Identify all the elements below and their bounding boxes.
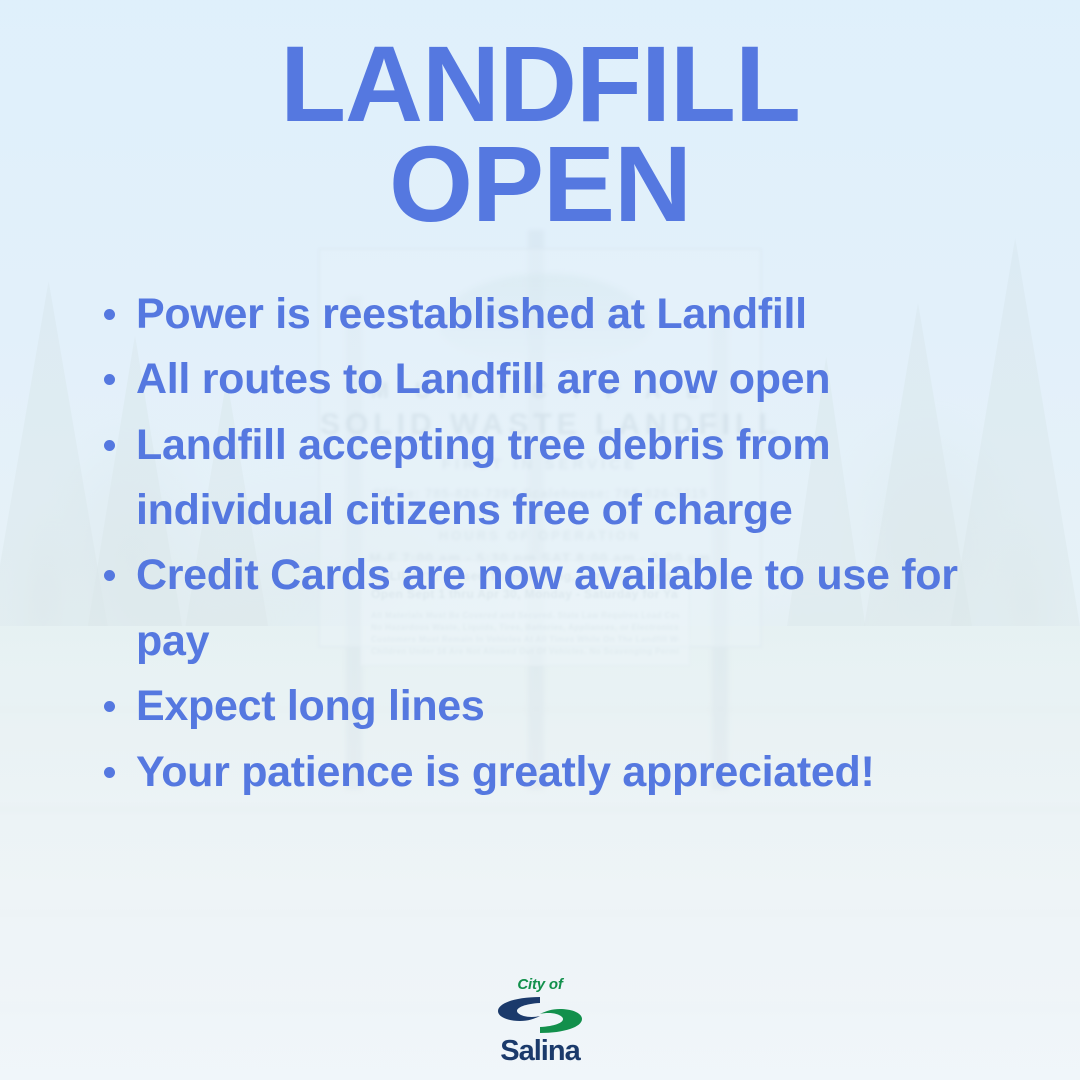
salina-swoosh-icon (492, 994, 588, 1036)
list-item: Your patience is greatly appreciated! (96, 740, 1020, 805)
list-item: Power is reestablished at Landfill (96, 282, 1020, 347)
list-item: Credit Cards are now available to use fo… (96, 543, 1020, 674)
list-item: Landfill accepting tree debris from indi… (96, 413, 1020, 544)
poster-content: LANDFILL OPEN Power is reestablished at … (0, 0, 1080, 1080)
city-of-salina-logo: City of Salina (465, 976, 615, 1066)
list-item: Expect long lines (96, 674, 1020, 739)
page-title: LANDFILL OPEN (0, 34, 1080, 235)
title-line-2: OPEN (0, 134, 1080, 234)
logo-city-of-text: City of (465, 976, 615, 993)
logo-salina-text: Salina (465, 1037, 615, 1066)
poster: M U N I C I P A L SOLID WASTE LANDFILL F… (0, 0, 1080, 1080)
list-item: All routes to Landfill are now open (96, 347, 1020, 412)
announcement-bullet-list: Power is reestablished at Landfill All r… (96, 282, 1020, 805)
